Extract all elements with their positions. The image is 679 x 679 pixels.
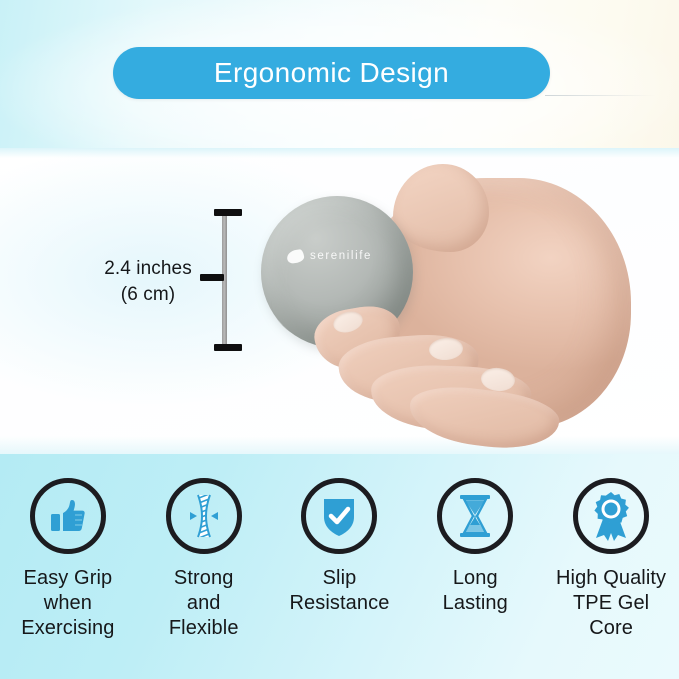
- feature-label: High Quality TPE Gel Core: [546, 566, 676, 641]
- page-title: Ergonomic Design: [214, 59, 449, 87]
- feature-icon-circle: [437, 478, 513, 554]
- feature-label: Easy Grip when Exercising: [3, 566, 133, 641]
- feature-label-line: Flexible: [139, 616, 269, 641]
- dimension-tick-middle-icon: [200, 274, 224, 281]
- bird-icon: [286, 249, 305, 264]
- feature-label: Strong and Flexible: [139, 566, 269, 641]
- brand-logo: serenilife: [287, 250, 372, 263]
- feature-label: Slip Resistance: [274, 566, 404, 616]
- brand-name: serenilife: [310, 251, 372, 263]
- feature-label-line: TPE Gel: [546, 591, 676, 616]
- feature-label-line: Easy Grip: [3, 566, 133, 591]
- band-top-edge-fade: [0, 148, 679, 158]
- feature-label-line: Exercising: [3, 616, 133, 641]
- title-pill: Ergonomic Design: [113, 47, 550, 99]
- feature-label-line: Core: [546, 616, 676, 641]
- feature-tpe-gel-core: High Quality TPE Gel Core: [543, 478, 679, 641]
- measurement-centimeters: (6 cm): [76, 282, 220, 308]
- feature-label-line: and: [139, 591, 269, 616]
- feature-label-line: when: [3, 591, 133, 616]
- feature-long-lasting: Long Lasting: [407, 478, 543, 641]
- measurement-inches: 2.4 inches: [76, 256, 220, 282]
- feature-icon-circle: [301, 478, 377, 554]
- feature-label-line: Resistance: [274, 591, 404, 616]
- feature-slip-resistance: Slip Resistance: [272, 478, 408, 641]
- feature-strong-flexible: Strong and Flexible: [136, 478, 272, 641]
- feature-easy-grip: Easy Grip when Exercising: [0, 478, 136, 641]
- compression-flex-icon: [179, 493, 229, 539]
- dimension-cap-top-icon: [214, 209, 242, 216]
- thumb-shape: [393, 164, 489, 252]
- feature-label-line: Slip: [274, 566, 404, 591]
- hand-with-ball-photo: serenilife: [243, 160, 643, 450]
- dimension-cap-bottom-icon: [214, 344, 242, 351]
- feature-icon-circle: [166, 478, 242, 554]
- feature-icon-circle: [573, 478, 649, 554]
- measurement-label: 2.4 inches (6 cm): [76, 256, 220, 308]
- product-feature-graphic: Ergonomic Design 2.4 inches (6 cm) seren…: [0, 0, 679, 679]
- feature-label-line: High Quality: [546, 566, 676, 591]
- decorative-hairline: [545, 95, 655, 96]
- feature-list: Easy Grip when Exercising: [0, 478, 679, 641]
- award-ribbon-icon: [588, 491, 634, 541]
- feature-label-line: Long: [410, 566, 540, 591]
- feature-label: Long Lasting: [410, 566, 540, 616]
- feature-label-line: Lasting: [410, 591, 540, 616]
- thumbs-up-icon: [46, 494, 90, 538]
- feature-label-line: Strong: [139, 566, 269, 591]
- feature-icon-circle: [30, 478, 106, 554]
- shield-check-icon: [318, 493, 360, 539]
- hourglass-icon: [454, 492, 496, 540]
